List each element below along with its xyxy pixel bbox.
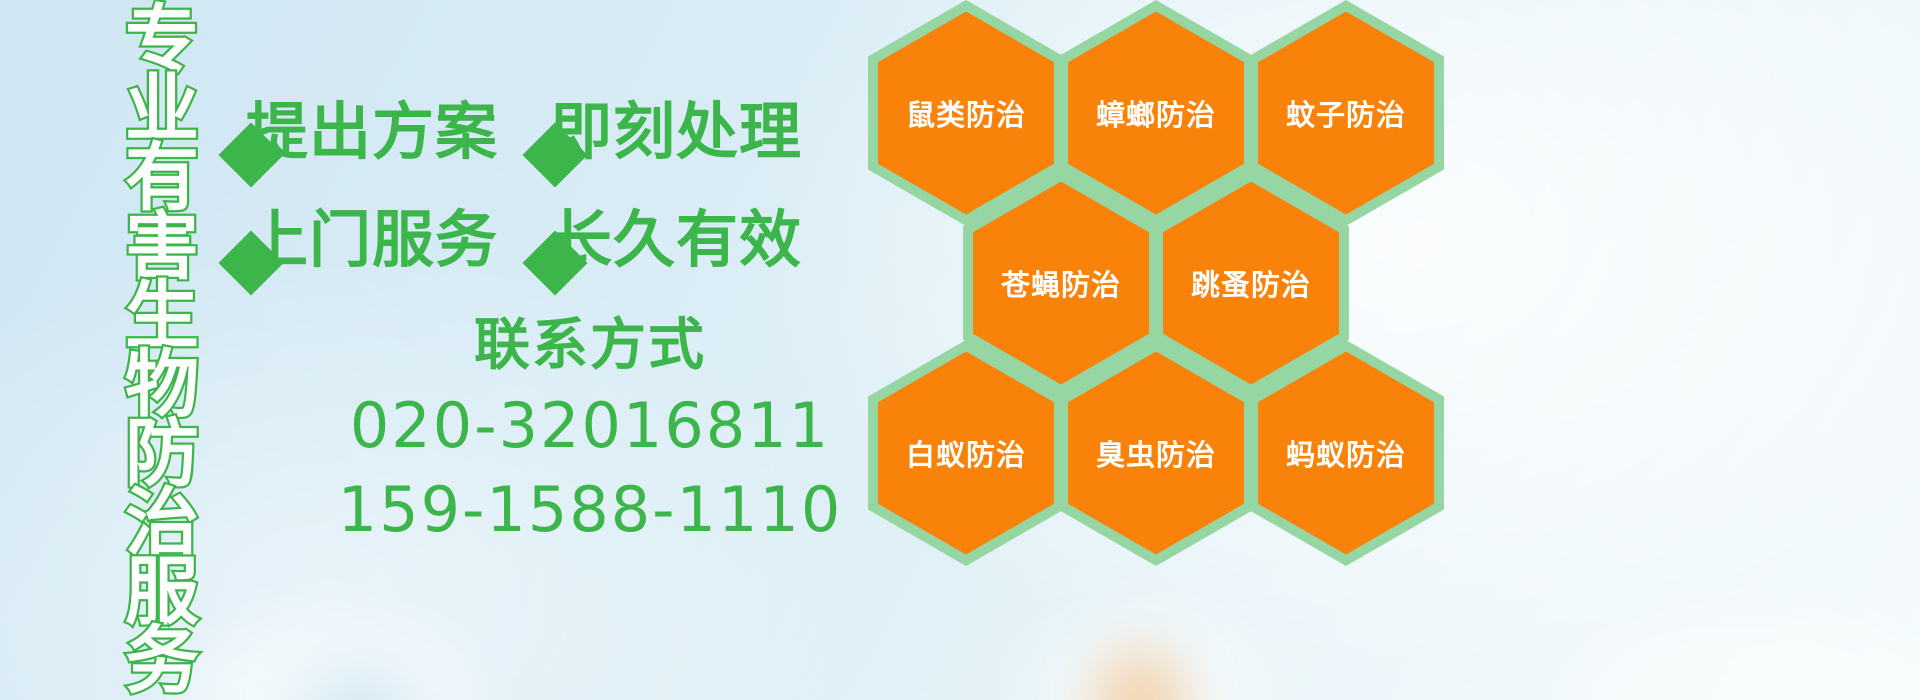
decorative-blur-left (180, 620, 480, 700)
phone-mobile[interactable]: 159-1588-1110 (300, 468, 880, 552)
vertical-slogan-char: 生 (125, 282, 199, 351)
vertical-slogan-char: 专 (125, 6, 199, 75)
feature-item-onsite-service: 上门服务 (228, 209, 498, 271)
hex-label: 蚊子防治 (1286, 92, 1406, 134)
feature-label: 提出方案 (246, 101, 498, 163)
vertical-slogan-char: 业 (125, 75, 199, 144)
hex-inner: 蚊子防治 (1258, 12, 1434, 215)
phone-landline[interactable]: 020-32016811 (300, 384, 880, 468)
hex-label: 蚂蚁防治 (1286, 432, 1406, 474)
hex-label: 臭虫防治 (1096, 432, 1216, 474)
feature-label: 长久有效 (550, 209, 802, 271)
feature-item-immediate-action: 即刻处理 (532, 101, 802, 163)
hex-inner: 鼠类防治 (878, 12, 1054, 215)
feature-row: 提出方案 即刻处理 (228, 78, 868, 186)
feature-label: 上门服务 (246, 209, 498, 271)
vertical-slogan-char: 务 (125, 627, 199, 696)
vertical-slogan-char: 有 (125, 144, 199, 213)
hex-inner: 白蚁防治 (878, 352, 1054, 555)
hex-inner: 跳蚤防治 (1163, 182, 1339, 385)
contact-title: 联系方式 (300, 308, 880, 384)
decorative-blur-right (1560, 610, 1920, 700)
hex-label: 跳蚤防治 (1191, 262, 1311, 304)
decorative-blur-orange (1095, 650, 1185, 700)
hex-label: 白蚁防治 (906, 432, 1026, 474)
vertical-slogan-char: 害 (125, 213, 199, 282)
hex-inner: 蚂蚁防治 (1258, 352, 1434, 555)
feature-row: 上门服务 长久有效 (228, 186, 868, 294)
hex-label: 鼠类防治 (906, 92, 1026, 134)
vertical-slogan-char: 物 (125, 351, 199, 420)
vertical-slogan-char: 防 (125, 420, 199, 489)
hex-label: 蟑螂防治 (1096, 92, 1216, 134)
decorative-blur-center (1030, 610, 1270, 700)
hex-label: 苍蝇防治 (1001, 262, 1121, 304)
vertical-slogan-char: 治 (125, 489, 199, 558)
pest-control-banner: 专 业 有 害 生 物 防 治 服 务 提出方案 即刻处理 上门服务 (0, 0, 1920, 700)
feature-list: 提出方案 即刻处理 上门服务 长久有效 (228, 78, 868, 294)
hex-inner: 蟑螂防治 (1068, 12, 1244, 215)
contact-block: 联系方式 020-32016811 159-1588-1110 (300, 308, 880, 552)
feature-item-propose-plan: 提出方案 (228, 101, 498, 163)
hex-inner: 臭虫防治 (1068, 352, 1244, 555)
vertical-slogan: 专 业 有 害 生 物 防 治 服 务 (106, 6, 218, 696)
decorative-blur-left-2 (300, 670, 420, 700)
feature-item-long-lasting: 长久有效 (532, 209, 802, 271)
service-honeycomb: 鼠类防治 蟑螂防治 蚊子防治 苍蝇防治 跳蚤防治 白蚁防治 (860, 0, 1480, 588)
vertical-slogan-char: 服 (125, 558, 199, 627)
hex-inner: 苍蝇防治 (973, 182, 1149, 385)
feature-label: 即刻处理 (550, 101, 802, 163)
